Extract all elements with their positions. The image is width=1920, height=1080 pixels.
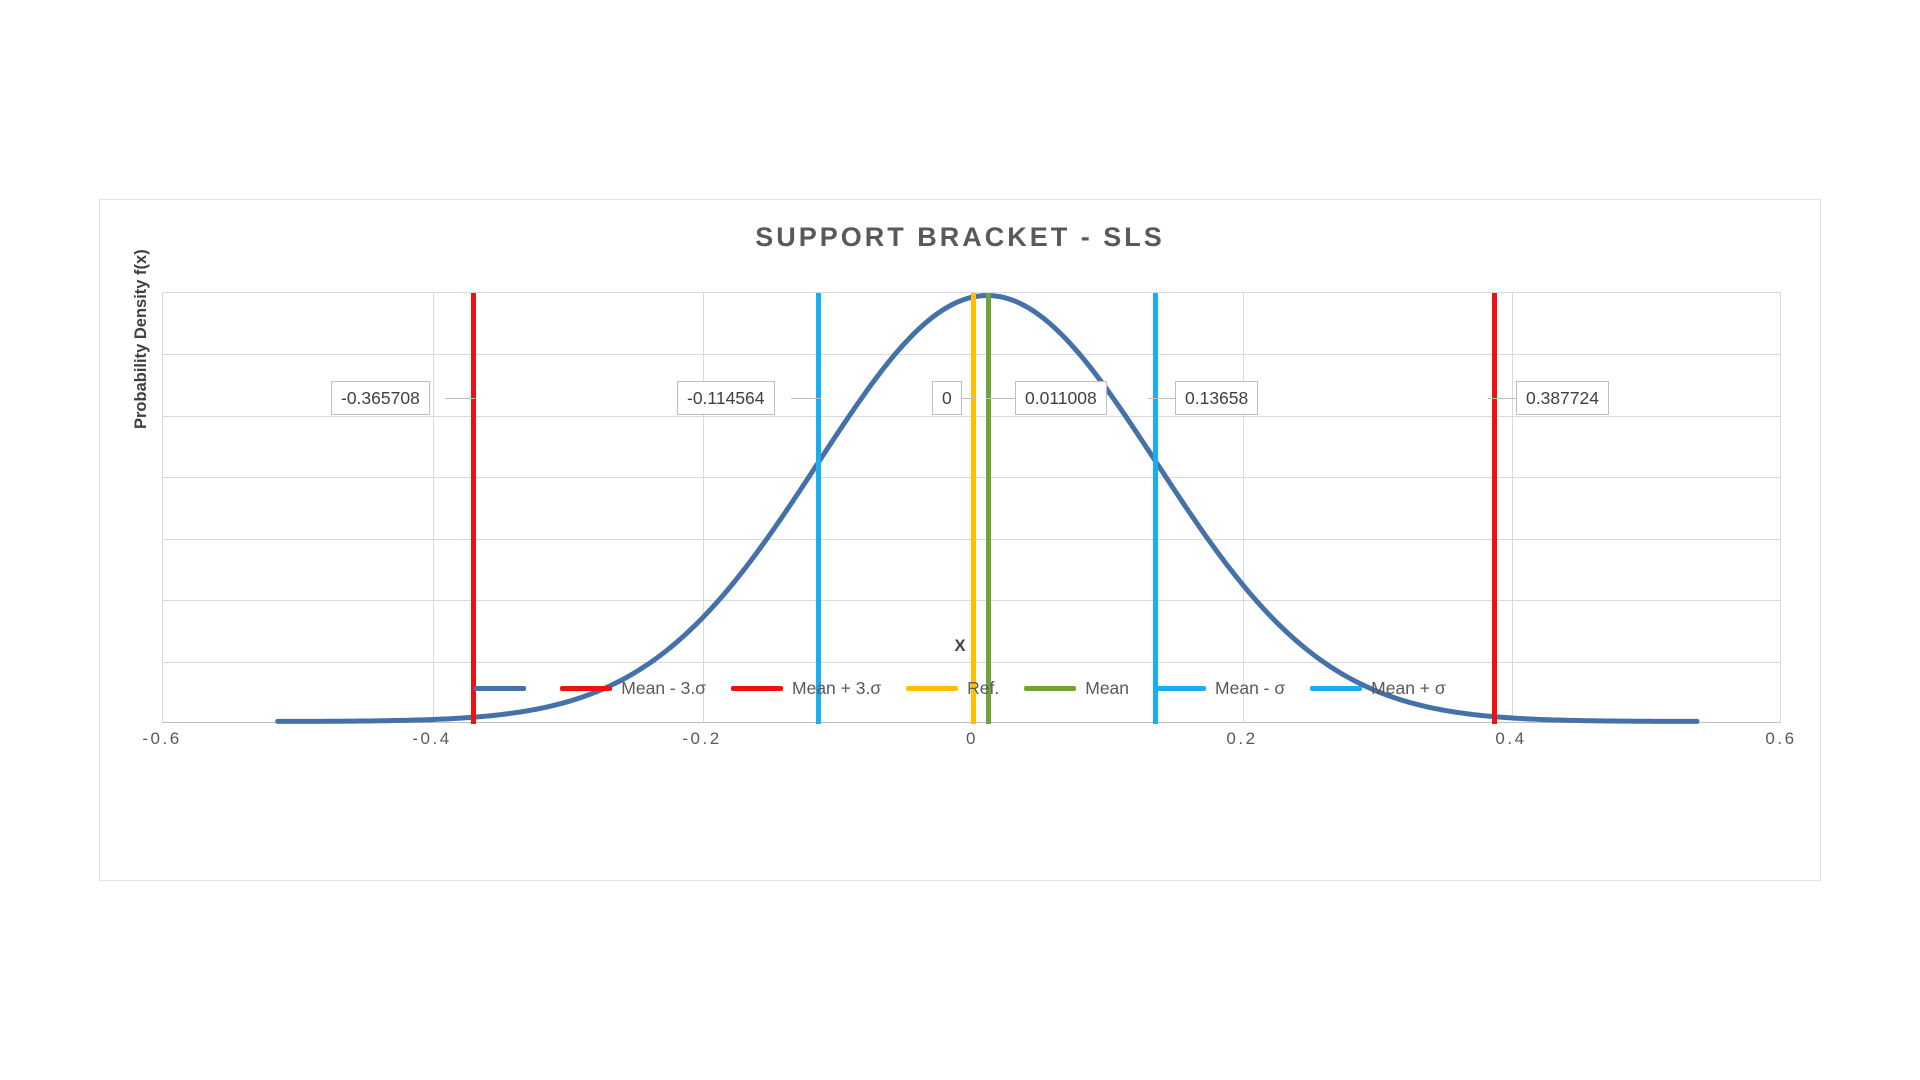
plot-area[interactable]: -0.365708 -0.114564 0 0.011008 0.13658 0… [162,292,1781,723]
legend-item-curve[interactable] [474,686,535,691]
data-label-mean-minus-3sigma[interactable]: -0.365708 [331,381,430,415]
legend-item-mean-minus-sigma[interactable]: Mean - σ [1154,678,1285,699]
data-label-ref[interactable]: 0 [932,381,962,415]
x-tick-label: 0.4 [1495,729,1526,749]
gridline-vertical [1243,293,1244,722]
x-tick-label: -0.6 [142,729,181,749]
callout-leader [791,398,821,399]
data-label-mean-plus-3sigma[interactable]: 0.387724 [1516,381,1609,415]
legend-item-mean-minus-3sigma[interactable]: Mean - 3.σ [560,678,706,699]
chart-container[interactable]: SUPPORT BRACKET - SLS Probability Densit… [99,199,1821,881]
legend-swatch-icon [731,686,783,691]
legend-label: Mean [1085,678,1129,699]
vline-mean-minus-3sigma[interactable] [471,293,476,724]
vline-ref[interactable] [971,293,976,724]
x-tick-label: 0.2 [1226,729,1257,749]
x-tick-label: -0.2 [682,729,721,749]
callout-leader [986,398,1016,399]
x-tick-label: 0 [966,729,978,749]
vline-mean-minus-sigma[interactable] [816,293,821,724]
legend-swatch-icon [474,686,526,691]
callout-leader [1488,398,1518,399]
legend-item-mean-plus-sigma[interactable]: Mean + σ [1310,678,1446,699]
x-axis-title[interactable]: X [100,637,1820,656]
legend-label: Mean - 3.σ [621,678,706,699]
legend-label: Mean + 3.σ [792,678,881,699]
callout-leader [1148,398,1176,399]
x-tick-label: -0.4 [412,729,451,749]
legend-label: Mean - σ [1215,678,1285,699]
legend-swatch-icon [560,686,612,691]
screenshot-root: SUPPORT BRACKET - SLS Probability Densit… [0,0,1920,1080]
data-label-mean-minus-sigma[interactable]: -0.114564 [677,381,775,415]
legend-swatch-icon [906,686,958,691]
legend-label: Ref. [967,678,999,699]
vline-mean-plus-sigma[interactable] [1153,293,1158,724]
callout-leader [445,398,475,399]
vline-mean[interactable] [986,293,991,724]
legend-swatch-icon [1024,686,1076,691]
chart-title[interactable]: SUPPORT BRACKET - SLS [100,222,1820,253]
legend-swatch-icon [1154,686,1206,691]
vline-mean-plus-3sigma[interactable] [1492,293,1497,724]
legend-item-ref[interactable]: Ref. [906,678,999,699]
legend-swatch-icon [1310,686,1362,691]
data-label-mean-plus-sigma[interactable]: 0.13658 [1175,381,1258,415]
legend-item-mean-plus-3sigma[interactable]: Mean + 3.σ [731,678,881,699]
chart-legend[interactable]: Mean - 3.σ Mean + 3.σ Ref. Mean Mean - σ… [100,678,1820,699]
x-tick-label: 0.6 [1765,729,1796,749]
data-label-mean[interactable]: 0.011008 [1015,381,1107,415]
legend-item-mean[interactable]: Mean [1024,678,1129,699]
gridline-vertical [1512,293,1513,722]
y-axis-title[interactable]: Probability Density f(x) [132,405,156,429]
gridline-vertical [703,293,704,722]
gridline-vertical [433,293,434,722]
legend-label: Mean + σ [1371,678,1446,699]
